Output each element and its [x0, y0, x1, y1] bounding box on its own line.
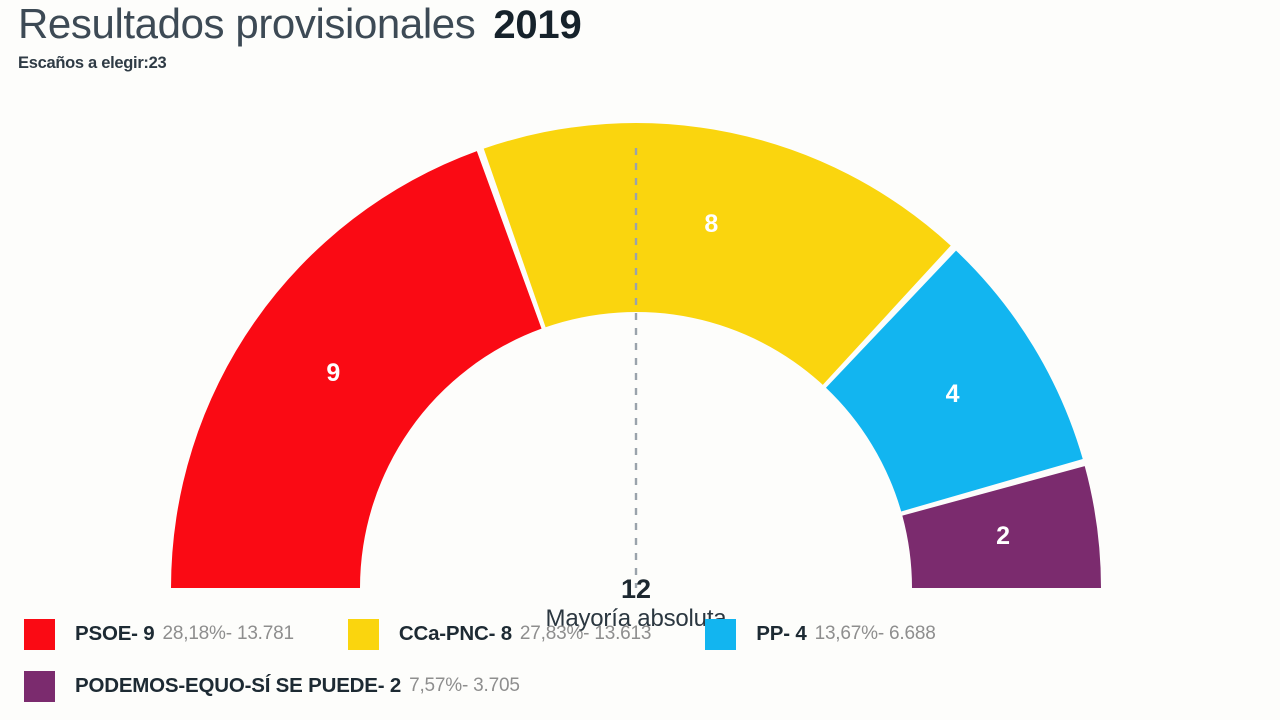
- legend-item[interactable]: PP- 413,67%- 6.688: [705, 619, 935, 650]
- title-year: 2019: [493, 3, 581, 48]
- title-row: Resultados provisionales 2019: [18, 2, 918, 48]
- legend-color-swatch: [348, 619, 379, 650]
- seat-gauge-chart: 9842 12 Mayoría absoluta: [0, 60, 1280, 605]
- legend-color-swatch: [705, 619, 736, 650]
- arc-label-psoe: 9: [326, 359, 340, 387]
- legend-item[interactable]: CCa-PNC- 827,83%- 13.613: [348, 619, 651, 650]
- legend-item[interactable]: PODEMOS-EQUO-SÍ SE PUEDE- 27,57%- 3.705: [24, 671, 520, 702]
- legend-color-swatch: [24, 671, 55, 702]
- arc-segment-psoe[interactable]: [171, 151, 542, 588]
- legend-party-name: PSOE- 9: [75, 622, 155, 646]
- arc-label-pp: 4: [946, 380, 960, 408]
- legend-party-name: PP- 4: [756, 622, 806, 646]
- gauge-svg: 9842: [0, 60, 1280, 605]
- legend-party-stats: 13,67%- 6.688: [815, 623, 936, 645]
- page-title: Resultados provisionales: [18, 2, 475, 46]
- legend-party-stats: 28,18%- 13.781: [163, 623, 294, 645]
- legend-color-swatch: [24, 619, 55, 650]
- legend-party-stats: 7,57%- 3.705: [409, 675, 520, 697]
- chart-legend: PSOE- 928,18%- 13.781CCa-PNC- 827,83%- 1…: [0, 608, 1280, 712]
- legend-party-name: PODEMOS-EQUO-SÍ SE PUEDE- 2: [75, 674, 401, 698]
- arc-segments: [171, 123, 1101, 588]
- legend-party-stats: 27,83%- 13.613: [520, 623, 651, 645]
- legend-row: PSOE- 928,18%- 13.781CCa-PNC- 827,83%- 1…: [0, 608, 1280, 660]
- legend-item[interactable]: PSOE- 928,18%- 13.781: [24, 619, 294, 650]
- legend-row: PODEMOS-EQUO-SÍ SE PUEDE- 27,57%- 3.705: [0, 660, 1280, 712]
- legend-party-name: CCa-PNC- 8: [399, 622, 512, 646]
- arc-label-cca-pnc: 8: [704, 210, 718, 238]
- majority-number: 12: [436, 575, 836, 603]
- arc-label-podemos-equo-s-se-puede: 2: [996, 522, 1010, 550]
